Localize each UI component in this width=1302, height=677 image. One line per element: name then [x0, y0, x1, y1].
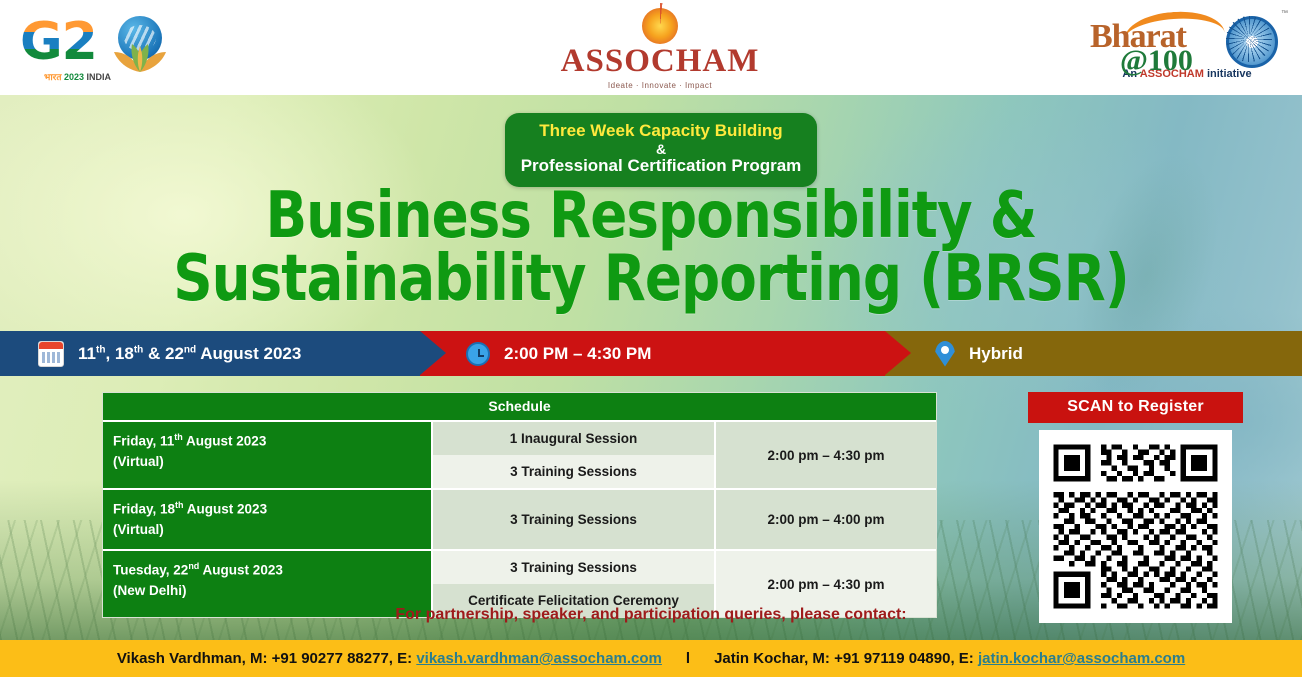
contact-heading: For partnership, speaker, and participat… — [0, 606, 1302, 624]
row-mode: (Virtual) — [113, 522, 164, 537]
contact-person-2: Jatin Kochar, M: +91 97119 04890, E: jat… — [714, 650, 1185, 667]
g20-lotus-icon — [110, 42, 170, 72]
email-link[interactable]: vikash.vardhman@assocham.com — [416, 650, 662, 667]
email-link[interactable]: jatin.kochar@assocham.com — [978, 650, 1185, 667]
event-location: Hybrid — [969, 344, 1023, 364]
table-row: Friday, 11th August 2023 (Virtual) 1 Ina… — [103, 422, 936, 490]
g20-subtitle-devanagari: भारत — [44, 72, 61, 82]
location-pin-icon — [935, 341, 955, 367]
session-item: 3 Training Sessions — [433, 490, 714, 549]
session-item: 1 Inaugural Session — [433, 422, 714, 455]
clock-icon — [466, 342, 490, 366]
bharat-wordmark-bottom: @100 — [1120, 44, 1193, 78]
row-time: 2:00 pm – 4:30 pm — [716, 422, 936, 488]
scan-to-register-button[interactable]: SCAN to Register — [1028, 392, 1243, 423]
contact-separator: l — [686, 650, 690, 667]
assocham-logo: ASSOCHAM Ideate · Innovate · Impact — [560, 8, 760, 90]
g20-subtitle-year: 2023 — [64, 72, 84, 82]
session-item: 3 Training Sessions — [433, 551, 714, 584]
calendar-icon — [38, 341, 64, 367]
g20-logo: G2 भारत 2023 INDIA — [18, 10, 178, 88]
g20-subtitle-country: INDIA — [87, 72, 112, 82]
event-dates: 11th, 18th & 22nd August 2023 — [78, 344, 301, 364]
contact-person-1: Vikash Vardhman, M: +91 90277 88277, E: … — [117, 650, 662, 667]
ribbon-time-segment: 2:00 PM – 4:30 PM — [420, 331, 885, 376]
event-time: 2:00 PM – 4:30 PM — [504, 344, 651, 364]
table-row: Friday, 18th August 2023 (Virtual) 3 Tra… — [103, 490, 936, 551]
assocham-wordmark: ASSOCHAM — [560, 45, 760, 78]
event-poster: G2 भारत 2023 INDIA ASSOCHAM Ideate · Inn… — [0, 0, 1302, 677]
schedule-table-header: Schedule — [103, 393, 936, 422]
row-mode: (New Delhi) — [113, 583, 187, 598]
row-sessions: 1 Inaugural Session 3 Training Sessions — [431, 422, 716, 488]
badge-line-1: Three Week Capacity Building — [515, 121, 807, 142]
ribbon-date-segment: 11th, 18th & 22nd August 2023 — [0, 331, 420, 376]
logo-bar: G2 भारत 2023 INDIA ASSOCHAM Ideate · Inn… — [0, 0, 1302, 95]
g20-subtitle: भारत 2023 INDIA — [44, 70, 111, 83]
row-date: Friday, 18th August 2023 (Virtual) — [103, 490, 431, 549]
title-line-2: Sustainability Reporting (BRSR) — [33, 248, 1270, 311]
row-time: 2:00 pm – 4:00 pm — [716, 490, 936, 549]
badge-line-2: & — [515, 142, 807, 157]
program-type-badge: Three Week Capacity Building & Professio… — [505, 113, 817, 187]
registration-qr-block: SCAN to Register — [1028, 392, 1243, 623]
schedule-table: Schedule Friday, 11th August 2023 (Virtu… — [102, 392, 937, 618]
row-mode: (Virtual) — [113, 454, 164, 469]
bharat-trademark: ™ — [1281, 10, 1288, 17]
row-sessions: 3 Training Sessions — [431, 490, 716, 549]
event-info-ribbon: 11th, 18th & 22nd August 2023 2:00 PM – … — [0, 331, 1302, 376]
bharat-at-100-logo: Bharat @100 ™ An ASSOCHAM initiative — [1082, 6, 1292, 90]
g20-wordmark: G2 — [20, 12, 97, 72]
session-item: 3 Training Sessions — [433, 455, 714, 488]
title-line-1: Business Responsibility & — [33, 185, 1270, 248]
row-date: Friday, 11th August 2023 (Virtual) — [103, 422, 431, 488]
ashoka-chakra-icon — [1226, 16, 1278, 68]
qr-code-box[interactable] — [1039, 430, 1232, 623]
assocham-sun-icon — [642, 8, 678, 44]
page-title: Business Responsibility & Sustainability… — [0, 185, 1302, 310]
assocham-tagline: Ideate · Innovate · Impact — [560, 81, 760, 90]
ribbon-location-segment: Hybrid — [885, 331, 1302, 376]
contact-footer-bar: Vikash Vardhman, M: +91 90277 88277, E: … — [0, 640, 1302, 677]
badge-line-3: Professional Certification Program — [515, 156, 807, 177]
qr-code-icon[interactable] — [1048, 439, 1223, 614]
